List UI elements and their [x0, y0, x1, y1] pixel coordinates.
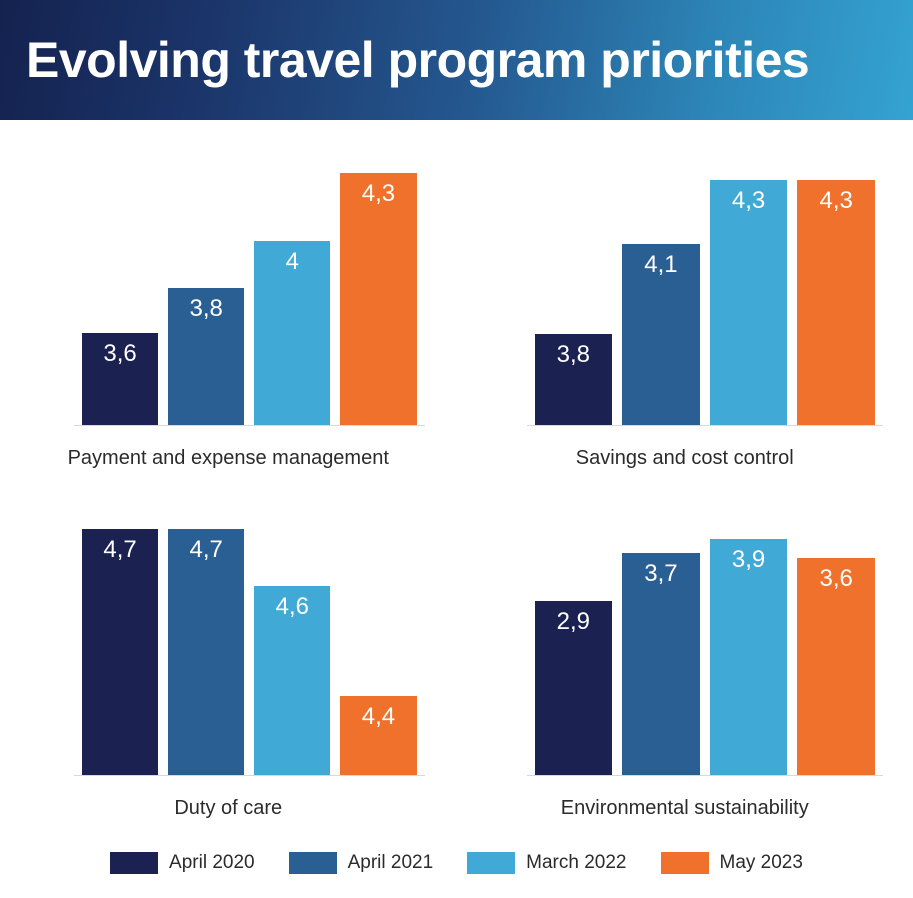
chart-panel-payment-and-expense-management: 3,6 3,8 4 4,3: [0, 120, 457, 470]
bar-value-label: 4,7: [168, 537, 244, 562]
bar-group: 3,8: [168, 288, 244, 425]
bar-april-2021[interactable]: 4,7: [168, 529, 244, 775]
legend-item-april-2020[interactable]: April 2020: [110, 852, 255, 874]
chart-panel-environmental-sustainability: 2,9 3,7 3,9 3,: [457, 470, 913, 820]
bar-april-2021[interactable]: 3,7: [622, 553, 700, 775]
bar-value-label: 3,6: [797, 566, 875, 591]
chart-grid: 3,6 3,8 4 4,3: [0, 120, 913, 820]
bar-value-label: 4,4: [340, 704, 416, 729]
bar-april-2020[interactable]: 3,8: [535, 334, 613, 425]
bar-group: 4,6: [254, 586, 330, 775]
bar-group: 3,9: [710, 539, 788, 775]
bar-may-2023[interactable]: 3,6: [797, 558, 875, 775]
bar-group: 4,1: [622, 244, 700, 425]
chart-legend: April 2020 April 2021 March 2022 May 202…: [0, 852, 913, 874]
bar-march-2022[interactable]: 3,9: [710, 539, 788, 775]
bar-value-label: 4,3: [710, 188, 788, 213]
chart-title: Payment and expense management: [0, 447, 457, 470]
bar-group: 3,8: [535, 334, 613, 425]
bar-may-2023[interactable]: 4,3: [797, 180, 875, 425]
bar-march-2022[interactable]: 4,6: [254, 586, 330, 775]
chart-panel-duty-of-care: 4,7 4,7 4,6 4,: [0, 470, 457, 820]
bar-april-2020[interactable]: 4,7: [82, 529, 158, 775]
bar-value-label: 4,1: [622, 252, 700, 277]
legend-label: May 2023: [720, 852, 803, 874]
bar-value-label: 3,9: [710, 547, 788, 572]
legend-label: March 2022: [526, 852, 626, 874]
page-title: Evolving travel program priorities: [0, 31, 809, 89]
legend-item-april-2021[interactable]: April 2021: [289, 852, 434, 874]
bar-march-2022[interactable]: 4: [254, 241, 330, 425]
bar-group: 4,3: [340, 173, 416, 425]
legend-label: April 2021: [348, 852, 434, 874]
header-banner: Evolving travel program priorities: [0, 0, 913, 120]
bar-group: 3,6: [797, 558, 875, 775]
bar-may-2023[interactable]: 4,4: [340, 696, 416, 775]
bar-march-2022[interactable]: 4,3: [710, 180, 788, 425]
legend-swatch: [289, 852, 337, 874]
bar-series: 4,7 4,7 4,6 4,: [82, 505, 417, 775]
bar-april-2021[interactable]: 3,8: [168, 288, 244, 425]
chart-title: Savings and cost control: [457, 447, 913, 470]
bar-value-label: 3,8: [535, 342, 613, 367]
bar-april-2020[interactable]: 2,9: [535, 601, 613, 775]
x-axis-line: [74, 775, 425, 776]
bar-group: 4,3: [797, 180, 875, 425]
legend-label: April 2020: [169, 852, 255, 874]
legend-swatch: [467, 852, 515, 874]
bar-group: 3,6: [82, 333, 158, 425]
bar-group: 4,3: [710, 180, 788, 425]
chart-panel-savings-and-cost-control: 3,8 4,1 4,3 4,: [457, 120, 913, 470]
plot-area: 3,8 4,1 4,3 4,: [535, 132, 876, 425]
x-axis-line: [527, 425, 884, 426]
bar-series: 3,8 4,1 4,3 4,: [535, 132, 876, 425]
plot-area: 2,9 3,7 3,9 3,: [535, 505, 876, 775]
bar-value-label: 4,6: [254, 594, 330, 619]
bar-value-label: 4,3: [340, 181, 416, 206]
bar-group: 4,7: [82, 529, 158, 775]
bar-group: 3,7: [622, 553, 700, 775]
x-axis-line: [74, 425, 425, 426]
bar-value-label: 4,3: [797, 188, 875, 213]
chart-title: Environmental sustainability: [457, 797, 913, 820]
bar-value-label: 4: [254, 249, 330, 274]
legend-swatch: [110, 852, 158, 874]
bar-group: 4,7: [168, 529, 244, 775]
bar-value-label: 3,8: [168, 296, 244, 321]
bar-may-2023[interactable]: 4,3: [340, 173, 416, 425]
chart-title: Duty of care: [0, 797, 457, 820]
bar-group: 4: [254, 241, 330, 425]
plot-area: 4,7 4,7 4,6 4,: [82, 505, 417, 775]
bar-value-label: 3,6: [82, 341, 158, 366]
bar-value-label: 2,9: [535, 609, 613, 634]
bar-group: 2,9: [535, 601, 613, 775]
infographic-page: Evolving travel program priorities 3,6 3…: [0, 0, 913, 898]
legend-item-may-2023[interactable]: May 2023: [661, 852, 803, 874]
x-axis-line: [527, 775, 884, 776]
bar-april-2020[interactable]: 3,6: [82, 333, 158, 425]
bar-april-2021[interactable]: 4,1: [622, 244, 700, 425]
bar-value-label: 4,7: [82, 537, 158, 562]
legend-item-march-2022[interactable]: March 2022: [467, 852, 626, 874]
bar-group: 4,4: [340, 696, 416, 775]
plot-area: 3,6 3,8 4 4,3: [82, 132, 417, 425]
legend-swatch: [661, 852, 709, 874]
bar-series: 3,6 3,8 4 4,3: [82, 132, 417, 425]
bar-value-label: 3,7: [622, 561, 700, 586]
bar-series: 2,9 3,7 3,9 3,: [535, 505, 876, 775]
